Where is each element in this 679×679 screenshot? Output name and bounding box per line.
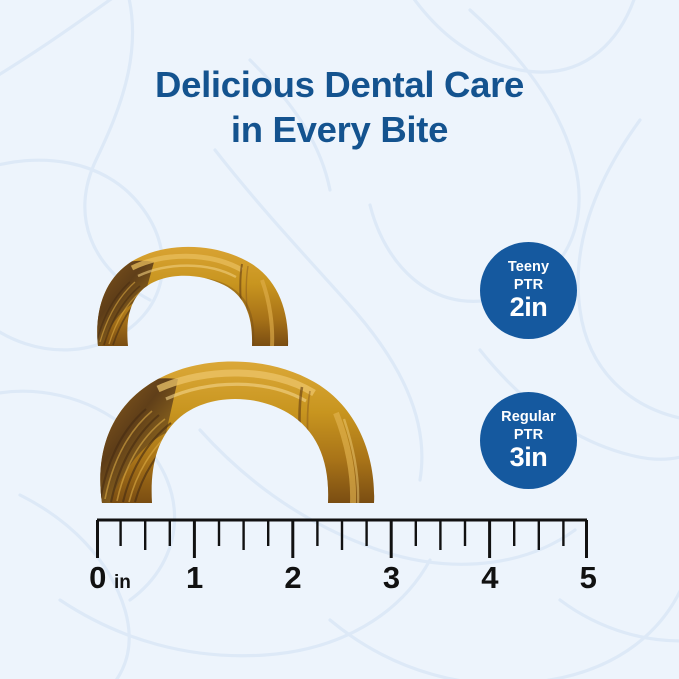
ruler-label-0: 0 in	[89, 560, 131, 596]
ruler-unit: in	[114, 572, 131, 593]
ruler-label-value: 0	[89, 560, 106, 595]
ruler-label-1: 1	[186, 560, 203, 596]
page-title: Delicious Dental Care in Every Bite	[0, 62, 679, 152]
headline-line-1: Delicious Dental Care	[0, 62, 679, 107]
badge-size-value: 2in	[510, 294, 548, 321]
badge-subtitle: PTR	[514, 428, 543, 443]
ruler-label-2: 2	[284, 560, 301, 596]
size-badge-teeny[interactable]: Teeny PTR 2in	[480, 242, 577, 339]
chew-stick-icon-regular	[96, 361, 379, 503]
ruler-label-5: 5	[580, 560, 597, 596]
chew-stick-icon-teeny	[92, 246, 294, 346]
badge-size-value: 3in	[510, 444, 548, 471]
badge-name: Teeny	[508, 260, 549, 275]
size-badge-regular[interactable]: Regular PTR 3in	[480, 392, 577, 489]
badge-name: Regular	[501, 410, 556, 425]
headline-line-2: in Every Bite	[0, 107, 679, 152]
badge-subtitle: PTR	[514, 278, 543, 293]
ruler-label-3: 3	[383, 560, 400, 596]
ruler-labels: 0 in12345	[0, 560, 679, 608]
product-infographic: Delicious Dental Care in Every Bite	[0, 0, 679, 679]
ruler-label-4: 4	[481, 560, 498, 596]
